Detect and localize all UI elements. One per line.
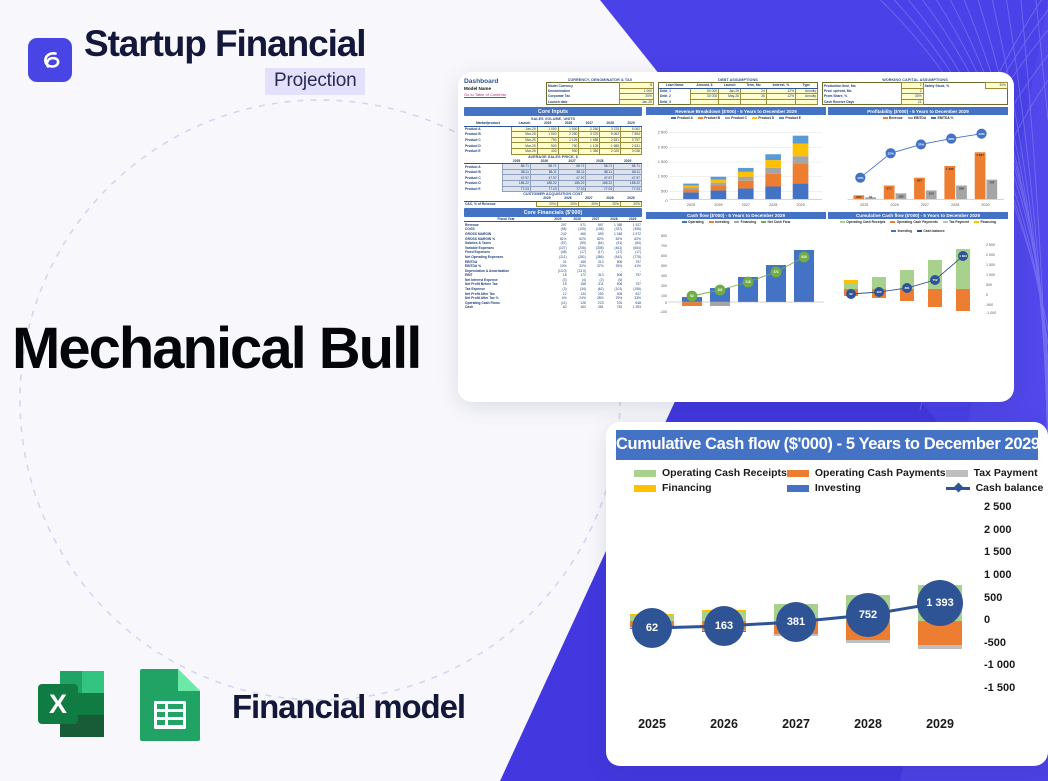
legend-label: Product A — [677, 116, 693, 120]
svg-text:371: 371 — [773, 270, 779, 274]
svg-text:62: 62 — [690, 294, 694, 298]
legend-label: Operating Cash Payments — [815, 467, 946, 479]
svg-text:381: 381 — [904, 286, 909, 290]
data-point-marker: 1 393 — [917, 580, 963, 626]
svg-text:2026: 2026 — [714, 203, 722, 207]
cell-value — [741, 99, 767, 104]
legend-swatch — [671, 117, 676, 119]
page-title: Mechanical Bull — [12, 312, 420, 385]
svg-text:2025: 2025 — [860, 203, 868, 207]
legend-swatch — [752, 117, 757, 119]
row-label: Debt_3 — [659, 99, 691, 104]
cell-value: 381 — [587, 305, 605, 310]
legend-swatch — [883, 117, 888, 119]
svg-text:500: 500 — [986, 283, 992, 287]
legend-swatch — [787, 485, 809, 492]
legend-label: Investing — [898, 229, 912, 233]
cell-value — [766, 99, 795, 104]
table-row: Launch dateJan-25 — [547, 99, 654, 105]
svg-text:2029: 2029 — [981, 203, 989, 207]
svg-text:2027: 2027 — [742, 203, 750, 207]
legend-swatch — [974, 221, 979, 223]
row-label: Cash Receive Days — [823, 99, 902, 105]
svg-text:1 385: 1 385 — [946, 167, 954, 171]
core-financials-table: Fiscal Year20252026202720282029 Revenue2… — [464, 217, 642, 310]
svg-text:300: 300 — [661, 284, 667, 288]
brand-title: Startup Financial — [84, 25, 365, 62]
legend-swatch — [946, 487, 970, 490]
legend-item: Investing — [709, 220, 730, 224]
data-point-marker: 381 — [776, 602, 816, 642]
svg-text:163: 163 — [876, 290, 881, 294]
cell-value: 3 038 — [621, 148, 642, 154]
legend-item: Financing — [734, 220, 756, 224]
legend-item: Investing — [787, 482, 946, 494]
legend-item: Financing — [634, 482, 787, 494]
svg-text:-500: -500 — [986, 303, 993, 307]
svg-text:37%: 37% — [918, 142, 924, 146]
legend-item: Product B — [698, 116, 720, 120]
chart-legend: Operating Cash ReceiptsOperating Cash Pa… — [616, 460, 1038, 496]
svg-text:1 927: 1 927 — [976, 153, 984, 157]
svg-text:297: 297 — [856, 195, 861, 199]
legend-label: Product D — [758, 116, 774, 120]
cash-balance-line — [616, 500, 1038, 735]
mini-chart-cash-flow[interactable]: Cash flow ($'000) - 5 Years to December … — [646, 212, 826, 321]
cell-value: 77.03 — [614, 186, 642, 192]
svg-text:500: 500 — [661, 264, 667, 268]
mini-chart-title: Cash flow ($'000) - 5 Years to December … — [646, 212, 826, 219]
sales-volume-table: Market/productLaunch20252026202720282029… — [464, 121, 642, 155]
legend-item: Product A — [671, 116, 693, 120]
svg-text:1 500: 1 500 — [986, 263, 995, 267]
svg-text:2 500: 2 500 — [658, 129, 669, 134]
legend-swatch — [908, 117, 913, 119]
legend-label: Financing — [980, 220, 996, 224]
cash-flow-plot: 800700600 500400300 1000-100 — [646, 225, 826, 317]
mini-chart-title: Profitability ($'000) - 5 Years to Decem… — [828, 107, 1008, 114]
legend-swatch — [917, 230, 922, 232]
svg-text:X: X — [49, 689, 67, 719]
legend-label: Product C — [731, 116, 747, 120]
legend-swatch — [787, 470, 809, 477]
svg-text:1 000: 1 000 — [658, 173, 669, 178]
legend-label: Cash balance — [923, 229, 944, 233]
cell-value: 77.03 — [586, 186, 614, 192]
svg-text:600: 600 — [661, 254, 667, 258]
svg-text:-1 000: -1 000 — [986, 311, 996, 315]
svg-text:640: 640 — [801, 255, 807, 259]
cell-value: Mar-25 — [512, 148, 537, 154]
legend-item: Tax Payment — [946, 467, 1044, 479]
svg-text:571: 571 — [887, 186, 892, 190]
data-point-marker: 62 — [632, 608, 672, 648]
legend-item: Product D — [752, 116, 774, 120]
svg-text:0: 0 — [665, 301, 667, 305]
legend-swatch — [943, 221, 948, 223]
format-label: Financial model — [232, 688, 465, 726]
mini-chart-title: Revenue Breakdown ($'000) - 5 Years to D… — [646, 107, 826, 114]
svg-text:2028: 2028 — [951, 203, 959, 207]
cell-value: 77.03 — [558, 186, 586, 192]
toc-link[interactable]: Go to Table of Contents — [464, 92, 542, 97]
legend-label: Operating Cash Receipts — [662, 467, 787, 479]
table-row: Debt_3 — [659, 99, 818, 104]
legend-swatch — [890, 221, 895, 223]
svg-text:0: 0 — [986, 293, 988, 297]
svg-text:41%: 41% — [978, 132, 984, 136]
svg-text:2025: 2025 — [687, 203, 695, 207]
cell-value: 62 — [548, 305, 567, 310]
row-label: Cash — [464, 305, 548, 310]
table-row: Cash621633817521 393 — [464, 305, 642, 310]
row-label: Product E — [464, 186, 503, 192]
svg-text:31: 31 — [869, 195, 873, 199]
legend-item: Operating Cash Payments — [787, 467, 946, 479]
legend-item: Operating Cash Payments — [890, 220, 937, 224]
table-row: Cash Receive Days21 — [823, 99, 1008, 105]
mini-chart-legend: Operating Cash ReceiptsOperating Cash Pa… — [828, 219, 1008, 234]
legend-item: EBITDA — [908, 116, 927, 120]
table-row: CAC, % of Revenue 20% 20% 20% 20% 20% — [464, 201, 642, 207]
format-badges: X Financial model — [30, 663, 465, 750]
dashboard-preview-card[interactable]: Dashboard Model Name Go to Table of Cont… — [458, 72, 1014, 402]
legend-item: Operating Cash Receipts — [634, 467, 787, 479]
cell-value: 21 — [901, 99, 923, 105]
svg-text:0: 0 — [665, 198, 668, 203]
cell-value: 400 — [537, 148, 558, 154]
legend-label: Cash balance — [976, 482, 1044, 494]
cell-value: 900 — [558, 148, 579, 154]
row-label-secondary — [923, 99, 986, 105]
legend-swatch — [698, 117, 703, 119]
svg-text:800: 800 — [661, 234, 667, 238]
infinity-loop-icon — [28, 38, 72, 82]
svg-text:2028: 2028 — [769, 203, 777, 207]
legend-item: Revenue — [883, 116, 903, 120]
data-point-marker: 163 — [704, 606, 744, 646]
svg-text:185: 185 — [898, 194, 903, 198]
svg-text:2 500: 2 500 — [986, 243, 995, 247]
cell-value: 2 025 — [600, 148, 621, 154]
legend-label: Product E — [785, 116, 801, 120]
svg-text:897: 897 — [917, 178, 922, 182]
legend-label: Investing — [715, 220, 729, 224]
cac-2025: 20% — [536, 201, 557, 207]
legend-item: Operating — [682, 220, 704, 224]
legend-item: Product E — [779, 116, 801, 120]
cac-2027: 20% — [578, 201, 599, 207]
legend-item: Investing — [891, 229, 912, 233]
legend-swatch — [840, 221, 845, 223]
svg-text:100: 100 — [661, 294, 667, 298]
profitability-plot: 29731 571185 897313 1 385506 1 927797 10… — [828, 121, 1008, 209]
svg-text:313: 313 — [929, 191, 934, 195]
legend-label: Operating Cash Receipts — [846, 220, 885, 224]
legend-label: EBITDA % — [937, 116, 953, 120]
currency-table: Model Currency$Denomination1 000Corporat… — [546, 82, 654, 105]
svg-text:32%: 32% — [888, 151, 894, 155]
mini-chart-revenue-breakdown[interactable]: Revenue Breakdown ($'000) - 5 Years to D… — [646, 107, 826, 209]
cell-value: 163 — [568, 305, 587, 310]
legend-label: Operating — [688, 220, 704, 224]
data-point-marker: 752 — [846, 593, 890, 637]
cell-value: 1 350 — [579, 148, 600, 154]
chart-title: Cumulative Cash flow ($'000) - 5 Years t… — [616, 430, 1038, 460]
core-inputs-band: Core Inputs — [464, 107, 642, 116]
working-capital-table: Production time, Mo2Safety Stock, %30%Pr… — [822, 82, 1008, 105]
cell-value-secondary — [986, 99, 1008, 105]
legend-swatch — [931, 117, 936, 119]
row-label: Launch date — [547, 99, 620, 105]
legend-swatch — [734, 221, 739, 223]
legend-item: Operating Cash Receipts — [840, 220, 886, 224]
svg-text:39%: 39% — [948, 137, 954, 141]
svg-text:-100: -100 — [660, 310, 667, 314]
table-row: Product E77.0377.0377.0377.0377.03 — [464, 186, 642, 192]
legend-item: Tax Payment — [943, 220, 969, 224]
cell-value: Jan-25 — [619, 99, 653, 105]
svg-text:10%: 10% — [857, 176, 863, 180]
legend-swatch — [709, 221, 714, 223]
cac-2026: 20% — [557, 201, 578, 207]
legend-label: EBITDA — [914, 116, 926, 120]
legend-item: EBITDA % — [931, 116, 953, 120]
legend-swatch — [946, 470, 968, 477]
legend-label: Financing — [741, 220, 757, 224]
legend-label: Investing — [815, 482, 861, 494]
mini-chart-cumulative-cash-flow[interactable]: Cumulative Cash flow ($'000) - 5 Years t… — [828, 212, 1008, 321]
svg-text:218: 218 — [745, 280, 751, 284]
svg-text:2 000: 2 000 — [986, 253, 995, 257]
cell-value — [719, 99, 741, 104]
revenue-breakdown-plot: 2 5002 000 1 5001 000 5000 — [646, 121, 826, 209]
legend-item: Net Cash Flow — [761, 220, 790, 224]
svg-text:700: 700 — [661, 244, 667, 248]
avg-price-table: 20252026202720282029 Product A58.7158.71… — [464, 159, 642, 193]
legend-swatch — [891, 230, 896, 232]
cumulative-cash-flow-plot: 2 5002 0001 500 1 0005000 -500-1 000 — [828, 234, 1008, 320]
dashboard-model-name: Model Name — [464, 86, 542, 91]
chart-plot-area: 2 5002 0001 5001 0005000-500-1 000-1 500… — [616, 500, 1038, 735]
svg-text:1 500: 1 500 — [658, 159, 669, 164]
legend-label: Revenue — [889, 116, 903, 120]
svg-text:797: 797 — [989, 180, 994, 184]
legend-label: Tax Payment — [974, 467, 1038, 479]
legend-swatch — [634, 470, 656, 477]
mini-chart-profitability[interactable]: Profitability ($'000) - 5 Years to Decem… — [828, 107, 1008, 209]
cac-row-label: CAC, % of Revenue — [464, 201, 536, 207]
legend-label: Product B — [704, 116, 720, 120]
svg-text:2 000: 2 000 — [658, 144, 669, 149]
svg-text:1 393: 1 393 — [959, 254, 967, 258]
legend-label: Net Cash Flow — [768, 220, 791, 224]
legend-item: Cash balance — [946, 482, 1044, 494]
cell-value: 752 — [605, 305, 624, 310]
svg-text:101: 101 — [717, 288, 723, 292]
cac-table: 20252026202720282029 CAC, % of Revenue 2… — [464, 196, 642, 207]
legend-swatch — [682, 221, 687, 223]
cumulative-cash-flow-card[interactable]: Cumulative Cash flow ($'000) - 5 Years t… — [606, 422, 1048, 766]
svg-text:500: 500 — [661, 188, 668, 193]
microsoft-excel-icon: X — [30, 663, 112, 750]
cell-value: 77.03 — [503, 186, 531, 192]
legend-swatch — [779, 117, 784, 119]
cell-value — [796, 99, 818, 104]
brand-lockup: Startup Financial Projection — [28, 25, 365, 95]
legend-item: Financing — [974, 220, 996, 224]
svg-text:1 000: 1 000 — [986, 273, 995, 277]
legend-swatch — [725, 117, 730, 119]
legend-label: Tax Payment — [949, 220, 969, 224]
cell-value — [690, 99, 718, 104]
cell-value: 1 393 — [623, 305, 642, 310]
debt-table: Loan NameAmount, $LaunchTerm, MoInterest… — [658, 82, 818, 105]
legend-label: Operating Cash Payments — [897, 220, 938, 224]
dashboard-heading: Dashboard — [464, 78, 542, 85]
core-financials-band: Core Financials ($'000) — [464, 208, 642, 217]
legend-swatch — [634, 485, 656, 492]
row-label: Product E — [464, 148, 512, 154]
legend-swatch — [761, 221, 766, 223]
brand-subtitle: Projection — [265, 68, 366, 95]
cell-value: 77.03 — [530, 186, 558, 192]
svg-text:2029: 2029 — [796, 203, 804, 207]
svg-text:2027: 2027 — [921, 203, 929, 207]
google-sheets-icon — [134, 663, 206, 750]
legend-label: Financing — [662, 482, 712, 494]
cac-2028: 20% — [599, 201, 620, 207]
svg-text:400: 400 — [661, 274, 667, 278]
legend-item: Product C — [725, 116, 747, 120]
legend-item: Cash balance — [917, 229, 945, 233]
svg-text:62: 62 — [849, 292, 853, 296]
cac-2029: 20% — [620, 201, 641, 207]
svg-text:506: 506 — [959, 186, 964, 190]
svg-text:752: 752 — [932, 278, 937, 282]
mini-chart-title: Cumulative Cash flow ($'000) - 5 Years t… — [828, 212, 1008, 219]
table-row: Product EMar-254009001 3502 0253 038 — [464, 148, 642, 154]
svg-text:2026: 2026 — [890, 203, 898, 207]
